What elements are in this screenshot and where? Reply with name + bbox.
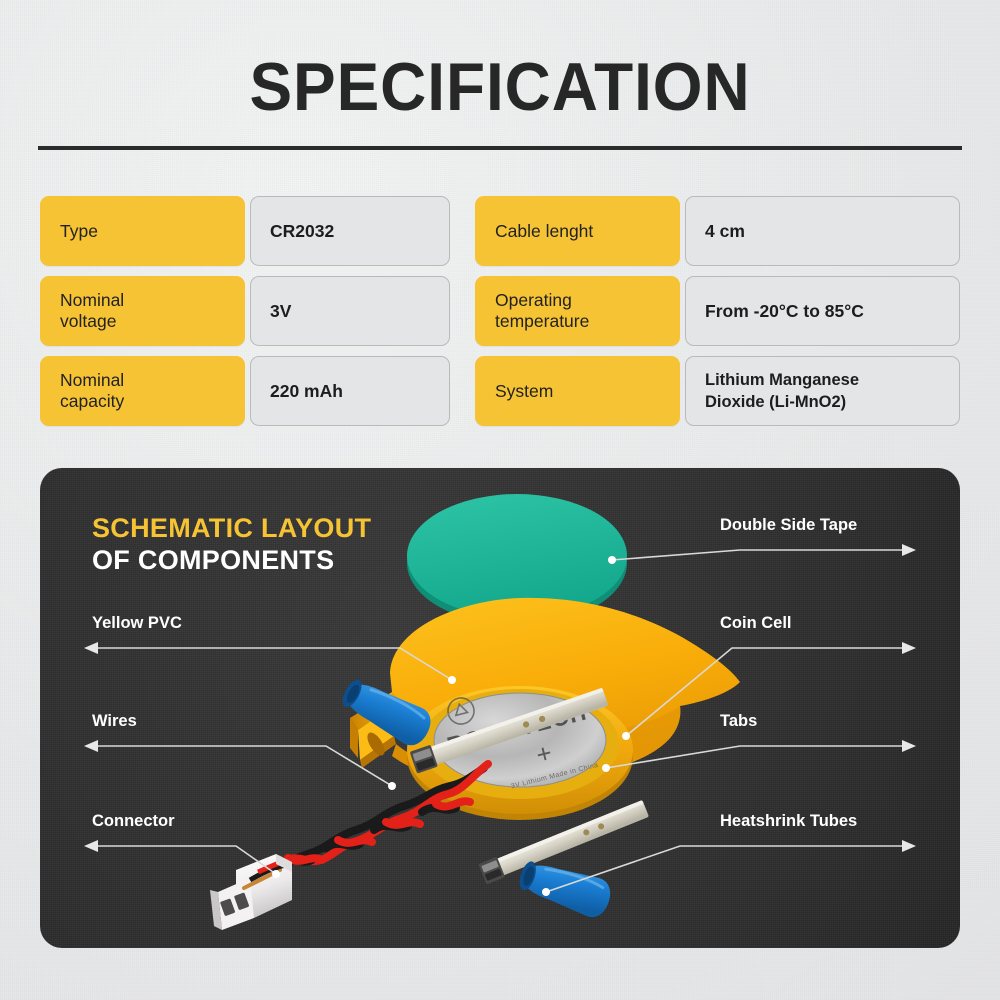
spec-label-system: System [475,356,680,426]
callout-label-yellow-pvc: Yellow PVC [92,614,182,633]
schematic-panel: SCHEMATIC LAYOUT OF COMPONENTS [40,468,960,948]
callout-label-wires: Wires [92,712,137,731]
spec-label-type: Type [40,196,245,266]
spec-label-operating-temperature: Operatingtemperature [475,276,680,346]
page-title: SPECIFICATION [30,49,970,125]
column-gap [455,196,470,266]
callout-label-heatshrink-tubes: Heatshrink Tubes [720,812,857,831]
spec-label-nominal-voltage: Nominalvoltage [40,276,245,346]
specification-table: Type CR2032 Cable lenght 4 cm Nominalvol… [40,196,960,426]
spec-value-type: CR2032 [250,196,450,266]
callout-leader-lines [40,468,960,948]
spec-value-system: Lithium ManganeseDioxide (Li-MnO2) [685,356,960,426]
column-gap [455,356,470,426]
column-gap [455,276,470,346]
spec-label-nominal-capacity: Nominalcapacity [40,356,245,426]
title-divider [38,146,962,150]
spec-value-operating-temperature: From -20°C to 85°C [685,276,960,346]
callout-label-tabs: Tabs [720,712,757,731]
callout-label-connector: Connector [92,812,175,831]
spec-label-cable-lenght: Cable lenght [475,196,680,266]
callout-label-double-side-tape: Double Side Tape [720,516,857,535]
spec-value-nominal-voltage: 3V [250,276,450,346]
spec-value-nominal-capacity: 220 mAh [250,356,450,426]
callout-label-coin-cell: Coin Cell [720,614,792,633]
spec-value-cable-lenght: 4 cm [685,196,960,266]
